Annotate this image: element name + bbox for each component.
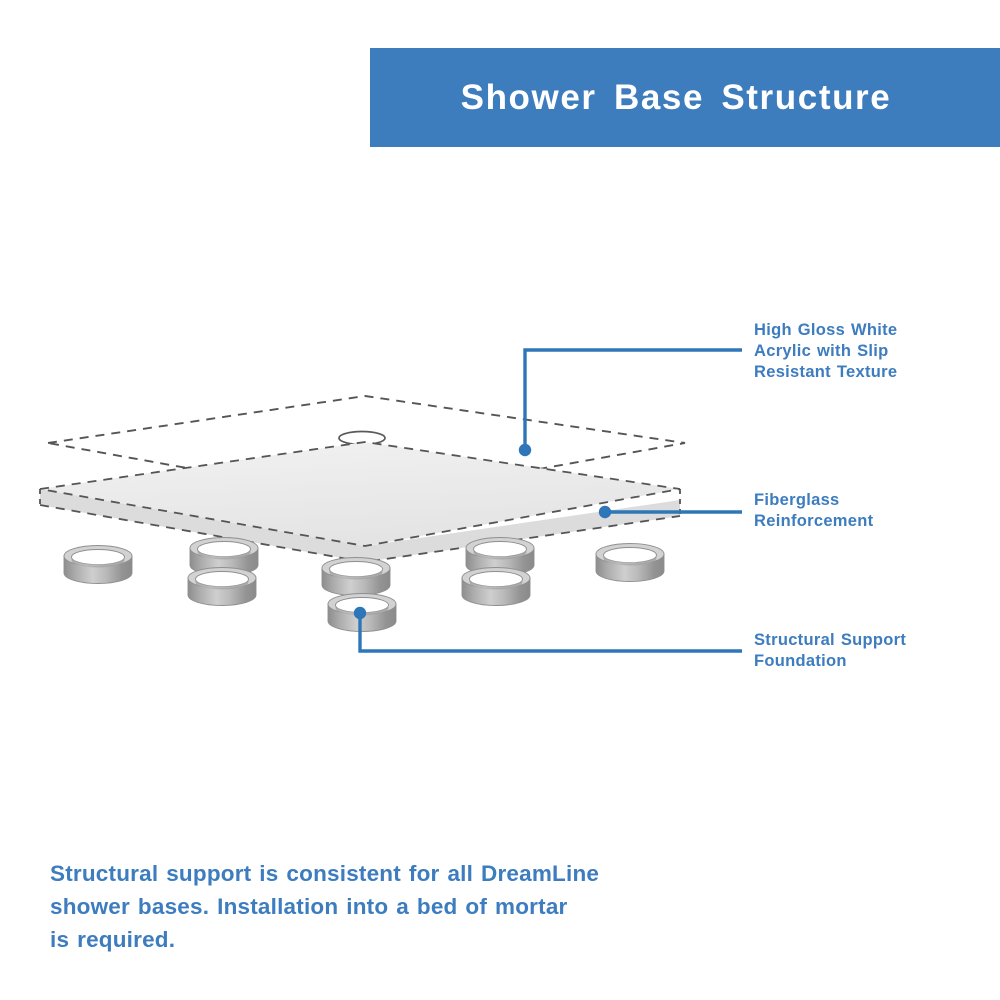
title-banner: Shower Base Structure xyxy=(370,48,1000,147)
callout-leaders xyxy=(354,350,742,651)
support-ring xyxy=(190,538,258,576)
support-ring xyxy=(596,544,664,582)
callout-label-fiberglass: Fiberglass Reinforcement xyxy=(754,490,989,532)
leader-line-fiberglass xyxy=(599,506,742,518)
support-ring xyxy=(64,546,132,584)
callout-label-support: Structural Support Foundation xyxy=(754,630,989,672)
page-title: Shower Base Structure xyxy=(370,78,1000,117)
support-ring xyxy=(188,568,256,606)
support-ring-group xyxy=(64,538,664,632)
support-ring xyxy=(462,568,530,606)
fiberglass-slab xyxy=(40,442,680,562)
callout-label-acrylic: High Gloss White Acrylic with Slip Resis… xyxy=(754,320,989,383)
leader-dot-support xyxy=(354,607,366,619)
drain-opening xyxy=(339,432,385,445)
support-ring xyxy=(466,538,534,576)
page-root: Shower Base Structure xyxy=(0,0,1000,1000)
leader-line-support xyxy=(354,607,742,651)
leader-line-acrylic xyxy=(519,350,742,456)
support-ring xyxy=(322,558,390,596)
support-ring xyxy=(328,594,396,632)
footer-caption: Structural support is consistent for all… xyxy=(50,857,690,956)
leader-dot-acrylic xyxy=(519,444,531,456)
acrylic-top-panel xyxy=(48,396,685,500)
leader-dot-fiberglass xyxy=(599,506,611,518)
